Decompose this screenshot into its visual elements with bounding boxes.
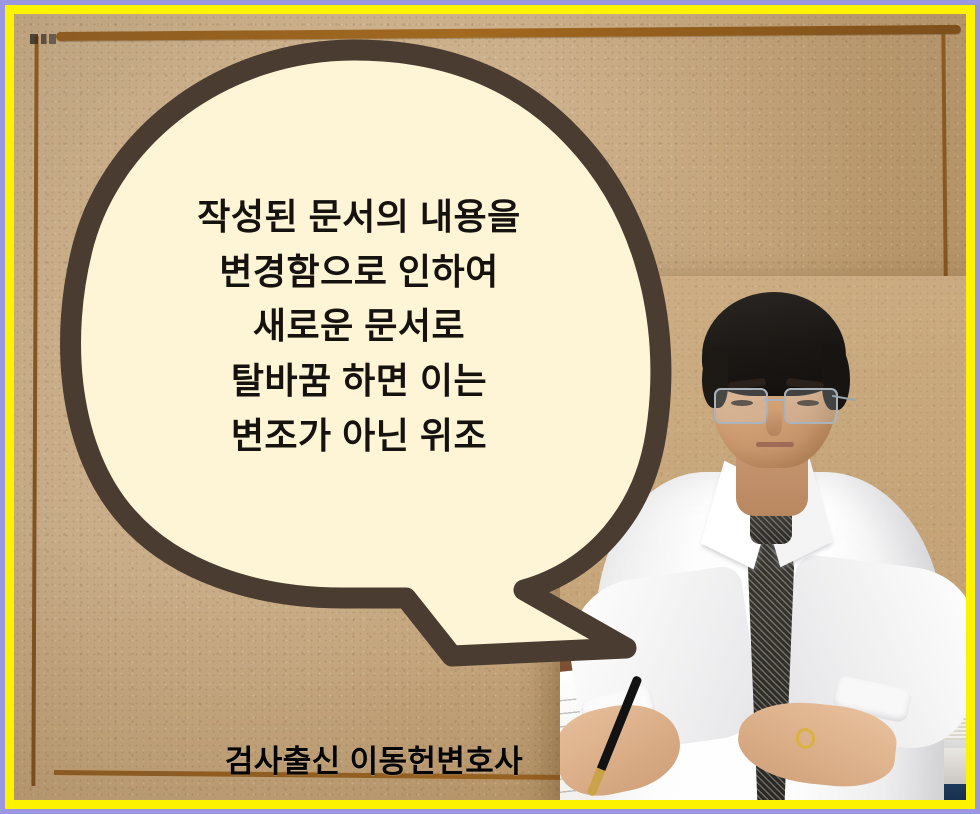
glasses-bridge	[764, 399, 784, 401]
frame-line-top	[56, 25, 961, 41]
bubble-line-3: 새로운 문서로	[124, 299, 594, 354]
bubble-line-2: 변경함으로 인하여	[124, 245, 594, 300]
cork-board-background: 작성된 문서의 내용을 변경함으로 인하여 새로운 문서로 탈바꿈 하면 이는 …	[14, 14, 966, 800]
nose	[766, 408, 782, 436]
caption-label: 검사출신 이동헌변호사	[164, 736, 584, 781]
bubble-line-1: 작성된 문서의 내용을	[124, 190, 594, 245]
speech-bubble: 작성된 문서의 내용을 변경함으로 인하여 새로운 문서로 탈바꿈 하면 이는 …	[54, 42, 694, 662]
lens-right	[784, 388, 838, 424]
poster-canvas: 작성된 문서의 내용을 변경함으로 인하여 새로운 문서로 탈바꿈 하면 이는 …	[0, 0, 980, 814]
corner-artifact-mark	[30, 34, 56, 44]
speech-bubble-text: 작성된 문서의 내용을 변경함으로 인하여 새로운 문서로 탈바꿈 하면 이는 …	[124, 190, 594, 464]
bubble-line-5: 변조가 아닌 위조	[124, 409, 594, 464]
frame-line-left	[31, 36, 38, 786]
mouth	[756, 442, 794, 447]
bubble-line-4: 탈바꿈 하면 이는	[124, 354, 594, 409]
lens-left	[714, 388, 768, 424]
